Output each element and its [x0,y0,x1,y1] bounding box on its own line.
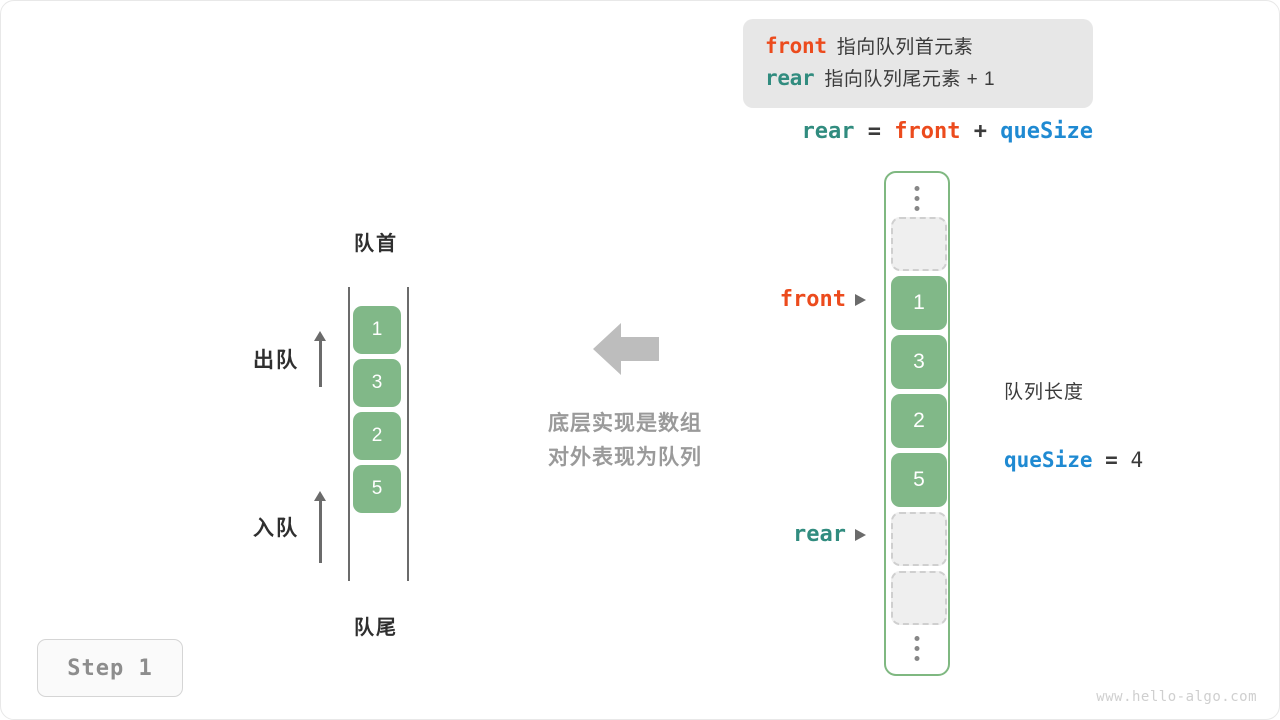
rear-pointer: rear [661,522,866,547]
formula-front-term: front [894,119,960,144]
rear-keyword: rear [765,66,814,90]
array-cell-0 [891,217,947,271]
queue-cell-0: 1 [353,306,401,354]
array-container: 1 3 2 5 [884,171,950,676]
enqueue-label: 入队 [253,512,299,542]
queue-rail-left [348,287,350,581]
arrow-right-icon [855,529,866,541]
dequeue-label: 出队 [253,344,299,374]
front-pointer: front [661,287,866,312]
formula-quesize-term: queSize [1000,119,1093,144]
quesize-value: 4 [1130,448,1143,472]
array-cell-6 [891,571,947,625]
array-cell-5 [891,512,947,566]
queue-cell-3: 5 [353,465,401,513]
center-note-line2: 对外表现为队列 [505,441,745,475]
arrow-left-icon [593,323,659,375]
array-cell-3: 2 [891,394,947,448]
array-cell-1: 1 [891,276,947,330]
ellipsis-top-icon [915,186,920,211]
arrow-right-icon [855,294,866,306]
step-badge: Step 1 [37,639,183,697]
front-pointer-label: front [780,287,846,312]
front-keyword: front [765,34,827,58]
ellipsis-bottom-icon [915,636,920,661]
dequeue-operation: 出队 [253,331,327,387]
queue-cell-1: 3 [353,359,401,407]
quesize-note-value: queSize = 4 [1004,448,1143,473]
quesize-note-title: 队列长度 [1004,377,1143,404]
arrow-up-icon [313,331,327,387]
rear-pointer-label: rear [793,522,846,547]
diagram-canvas: front 指向队列首元素 rear 指向队列尾元素 + 1 rear = fr… [0,0,1280,720]
queue-head-label: 队首 [306,227,446,256]
array-cell-4: 5 [891,453,947,507]
quesize-name: queSize [1004,448,1093,472]
quesize-note: 队列长度 queSize = 4 [1004,341,1143,509]
watermark: www.hello-algo.com [1096,689,1257,705]
queue-cell-2: 2 [353,412,401,460]
front-description: 指向队列首元素 [837,32,974,59]
rear-description: 指向队列尾元素 + 1 [824,64,995,91]
queue-rail-right [407,287,409,581]
center-note-line1: 底层实现是数组 [505,407,745,441]
formula-plus: + [961,119,1001,144]
center-note: 底层实现是数组 对外表现为队列 [505,407,745,475]
enqueue-operation: 入队 [253,491,327,563]
callout-line-front: front 指向队列首元素 [765,32,1093,64]
formula-rear-term: rear [802,119,855,144]
pointer-definition-callout: front 指向队列首元素 rear 指向队列尾元素 + 1 [743,19,1093,108]
formula-equals: = [855,119,895,144]
array-cell-2: 3 [891,335,947,389]
queue-tail-label: 队尾 [306,611,446,640]
callout-line-rear: rear 指向队列尾元素 + 1 [765,64,1093,96]
quesize-equals: = [1093,448,1131,472]
arrow-up-icon [313,491,327,563]
rear-formula: rear = front + queSize [743,119,1093,144]
